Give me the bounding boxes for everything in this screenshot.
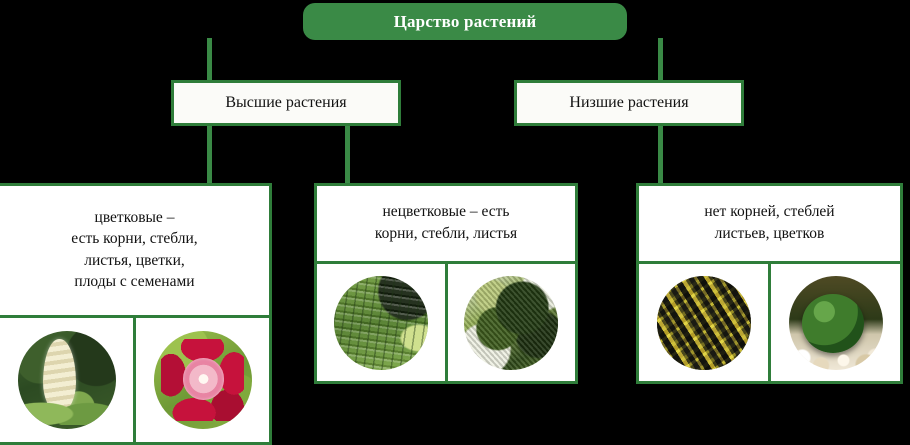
algae-ball-photo xyxy=(789,276,883,370)
caption-line: есть корни, стебли, xyxy=(71,228,197,249)
connector-root-to-lower xyxy=(658,38,663,82)
group-card-nonflowering[interactable]: нецветковые – есть корни, стебли, листья xyxy=(314,183,578,384)
node-lower-plants[interactable]: Низшие растения xyxy=(514,80,744,126)
photo-cell xyxy=(445,264,576,381)
connector-higher-to-nonflowering xyxy=(345,118,350,186)
node-lower-plants-label: Низшие растения xyxy=(569,94,688,112)
chestnut-flower-photo xyxy=(18,331,116,429)
root-node-plant-kingdom[interactable]: Царство растений xyxy=(303,3,627,40)
caption-line: цветковые – xyxy=(95,207,175,228)
group-card-flowering[interactable]: цветковые – есть корни, стебли, листья, … xyxy=(0,183,272,445)
brown-seaweed-photo xyxy=(657,276,751,370)
fern-photo xyxy=(334,276,428,370)
photo-cell xyxy=(0,318,133,442)
connector-higher-to-flowering xyxy=(207,118,212,186)
photo-row-lower-plants xyxy=(639,261,900,381)
caption-line: корни, стебли, листья xyxy=(375,223,517,244)
photo-row-nonflowering xyxy=(317,261,575,381)
group-card-lower-plants[interactable]: нет корней, стеблей листьев, цветков xyxy=(636,183,903,384)
photo-cell xyxy=(639,264,768,381)
group-caption-flowering: цветковые – есть корни, стебли, листья, … xyxy=(0,186,269,315)
root-node-label: Царство растений xyxy=(394,12,537,32)
node-higher-plants-label: Высшие растения xyxy=(225,94,346,112)
columbine-flower-photo xyxy=(154,331,252,429)
photo-row-flowering xyxy=(0,315,269,442)
caption-line: нет корней, стеблей xyxy=(704,201,834,222)
photo-cell xyxy=(768,264,900,381)
caption-line: нецветковые – есть xyxy=(383,201,510,222)
group-caption-nonflowering: нецветковые – есть корни, стебли, листья xyxy=(317,186,575,261)
photo-cell xyxy=(133,318,269,442)
caption-line: листья, цветки, xyxy=(84,250,185,271)
connector-lower-to-group xyxy=(658,118,663,186)
moss-photo xyxy=(464,276,558,370)
connector-root-to-higher xyxy=(207,38,212,82)
caption-line: плоды с семенами xyxy=(74,271,194,292)
node-higher-plants[interactable]: Высшие растения xyxy=(171,80,401,126)
caption-line: листьев, цветков xyxy=(715,223,825,244)
group-caption-lower-plants: нет корней, стеблей листьев, цветков xyxy=(639,186,900,261)
photo-cell xyxy=(317,264,445,381)
